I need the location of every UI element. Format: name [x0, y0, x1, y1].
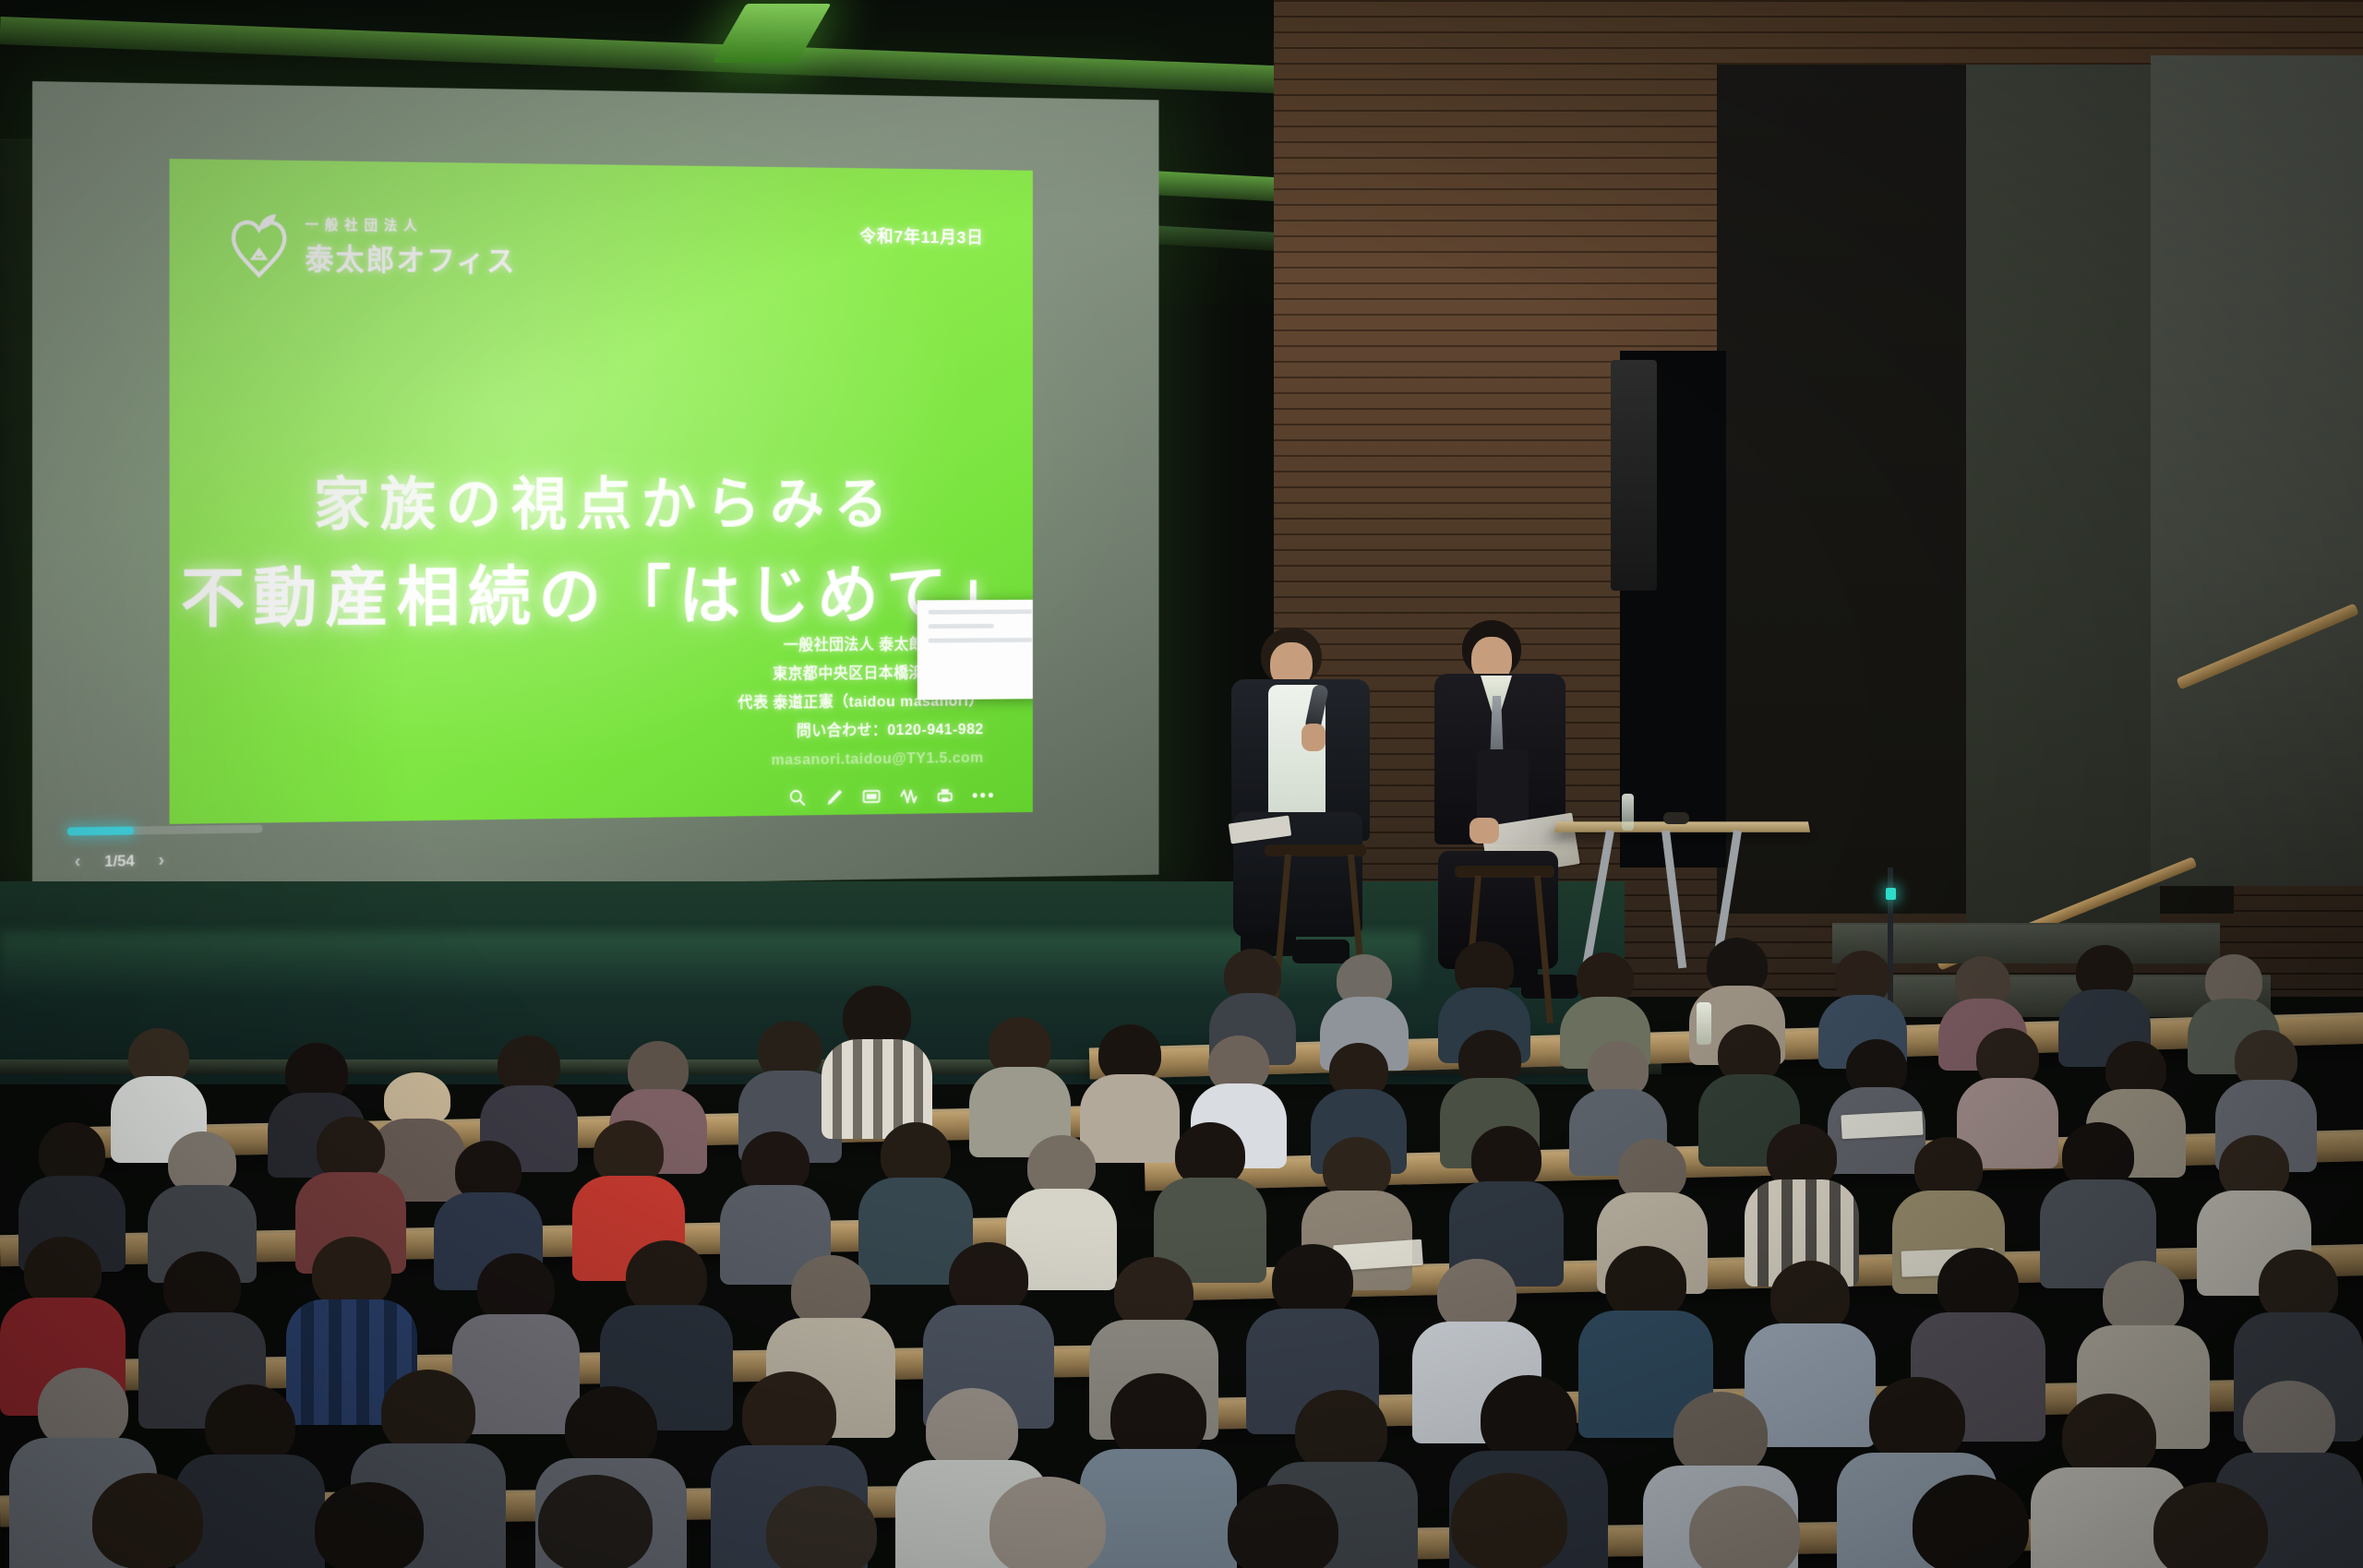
pen-annotate-icon[interactable] [824, 787, 844, 808]
search-icon[interactable] [787, 787, 807, 808]
seminar-hall-scene: 一般社団法人 泰太郎オフィス 令和7年11月3日 家族の視点からみる 不動産相続… [0, 0, 2363, 1568]
viewer-toolbar[interactable]: ••• [787, 785, 995, 808]
popup-line [929, 624, 994, 628]
slide-progress-fill [67, 826, 134, 835]
next-slide-button[interactable]: › [158, 850, 164, 871]
attendee [729, 1486, 914, 1568]
page-indicator: 1/54 [104, 852, 135, 870]
attendee [498, 1475, 692, 1568]
audience-seating [0, 932, 2363, 1568]
slide-progress-bar[interactable] [67, 825, 263, 836]
attendee [951, 1477, 1145, 1568]
logo-main-text: 泰太郎オフィス [305, 236, 516, 280]
attendee [55, 1473, 240, 1568]
presenter-view-icon[interactable] [861, 786, 881, 807]
camera-record-led [1886, 888, 1896, 900]
attendee [1652, 1486, 1837, 1568]
projection-screen: 一般社団法人 泰太郎オフィス 令和7年11月3日 家族の視点からみる 不動産相続… [32, 81, 1158, 893]
slide-title-line1: 家族の視点からみる [170, 461, 1033, 549]
more-options-icon[interactable]: ••• [972, 786, 996, 806]
slide-logo: 一般社団法人 泰太郎オフィス [225, 210, 516, 282]
ceiling-beam [0, 17, 1311, 94]
viewer-popup-card[interactable] [918, 600, 1033, 700]
apple-heart-logo-icon [225, 210, 292, 281]
footer-phone: 問い合わせ：0120-941-982 [738, 715, 983, 747]
attendee [1449, 1126, 1564, 1281]
attendee-plaid [822, 986, 932, 1135]
attendee [1874, 1475, 2068, 1568]
side-wall-panel [1966, 65, 2160, 923]
print-icon[interactable] [935, 785, 954, 806]
footer-email: masanori.taidou@TY1.5.com [738, 744, 983, 775]
laser-pointer-icon[interactable] [898, 786, 918, 807]
popup-line [929, 609, 1032, 614]
table-item [1663, 812, 1689, 824]
presenter-hand [1301, 724, 1325, 751]
attendee [1412, 1473, 1606, 1568]
attendee-plaid [1745, 1124, 1859, 1281]
attendee [277, 1482, 462, 1568]
attendee [969, 1017, 1071, 1154]
slide-title: 家族の視点からみる 不動産相続の「はじめて」 [170, 461, 1033, 649]
logo-sub-text: 一般社団法人 [305, 214, 516, 235]
attendee [2040, 1122, 2156, 1283]
floor-speaker [1611, 360, 1657, 591]
side-wall-panel [2151, 55, 2363, 886]
prev-slide-button[interactable]: ‹ [75, 851, 81, 872]
presentation-slide[interactable]: 一般社団法人 泰太郎オフィス 令和7年11月3日 家族の視点からみる 不動産相続… [170, 159, 1033, 824]
attendee [2114, 1482, 2308, 1568]
moderator-hand [1469, 818, 1499, 844]
slide-date: 令和7年11月3日 [859, 223, 983, 248]
attendee [1191, 1484, 1375, 1568]
water-bottle [1622, 794, 1634, 831]
slide-pager[interactable]: ‹ 1/54 › [75, 850, 164, 872]
popup-line [929, 638, 1032, 643]
